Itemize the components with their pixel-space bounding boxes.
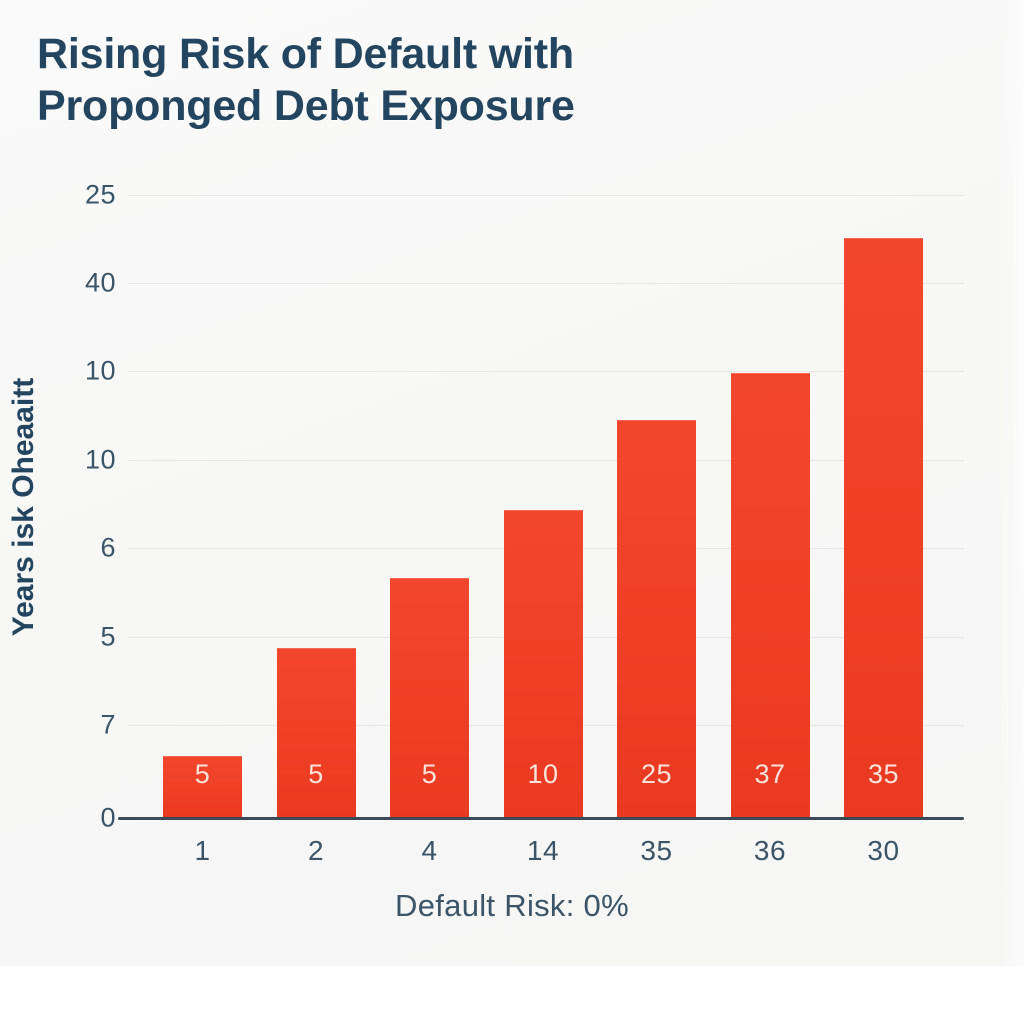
bar[interactable]: 5 — [277, 648, 356, 818]
bar[interactable]: 5 — [163, 756, 242, 818]
y-axis-tick-label: 5 — [56, 622, 116, 653]
bar-value-label: 35 — [844, 759, 923, 790]
plot-area: 55510253735 — [128, 190, 964, 819]
gridline — [128, 460, 964, 461]
x-axis-tick-label: 30 — [824, 835, 943, 867]
bar[interactable]: 37 — [731, 373, 810, 818]
bar-value-label: 5 — [163, 759, 242, 790]
bar[interactable]: 5 — [390, 578, 469, 818]
y-axis-title: Years isk Oheaaitt — [7, 227, 41, 787]
bar[interactable]: 35 — [844, 238, 923, 818]
x-axis-tick-label: 14 — [484, 835, 603, 867]
y-axis-tick-label: 6 — [56, 533, 116, 564]
bar-value-label: 10 — [504, 759, 583, 790]
gridline — [128, 283, 964, 284]
bar[interactable]: 10 — [504, 510, 583, 818]
x-axis-tick-label: 36 — [711, 835, 830, 867]
gridline — [128, 195, 964, 196]
x-axis-tick-label: 35 — [597, 835, 716, 867]
y-axis-tick-label: 40 — [56, 268, 116, 299]
bar-value-label: 37 — [731, 759, 810, 790]
bar-value-label: 5 — [277, 759, 356, 790]
bar-value-label: 25 — [617, 759, 696, 790]
y-axis-tick-label: 0 — [56, 803, 116, 834]
bar[interactable]: 25 — [617, 420, 696, 818]
gridline — [128, 371, 964, 372]
chart-title: Rising Risk of Default with Proponged De… — [37, 28, 757, 132]
bar-value-label: 5 — [390, 759, 469, 790]
x-axis-tick-label: 2 — [257, 835, 376, 867]
y-axis-tick-label: 10 — [56, 445, 116, 476]
x-axis-tick-label: 1 — [143, 835, 262, 867]
x-axis-tick-label: 4 — [370, 835, 489, 867]
y-axis-tick-label: 7 — [56, 710, 116, 741]
y-axis-tick-label: 10 — [56, 356, 116, 387]
x-axis-line — [118, 817, 964, 820]
chart-card: Rising Risk of Default with Proponged De… — [0, 0, 1024, 966]
x-axis-title: Default Risk: 0% — [0, 888, 1024, 924]
y-axis-tick-label: 25 — [56, 180, 116, 211]
